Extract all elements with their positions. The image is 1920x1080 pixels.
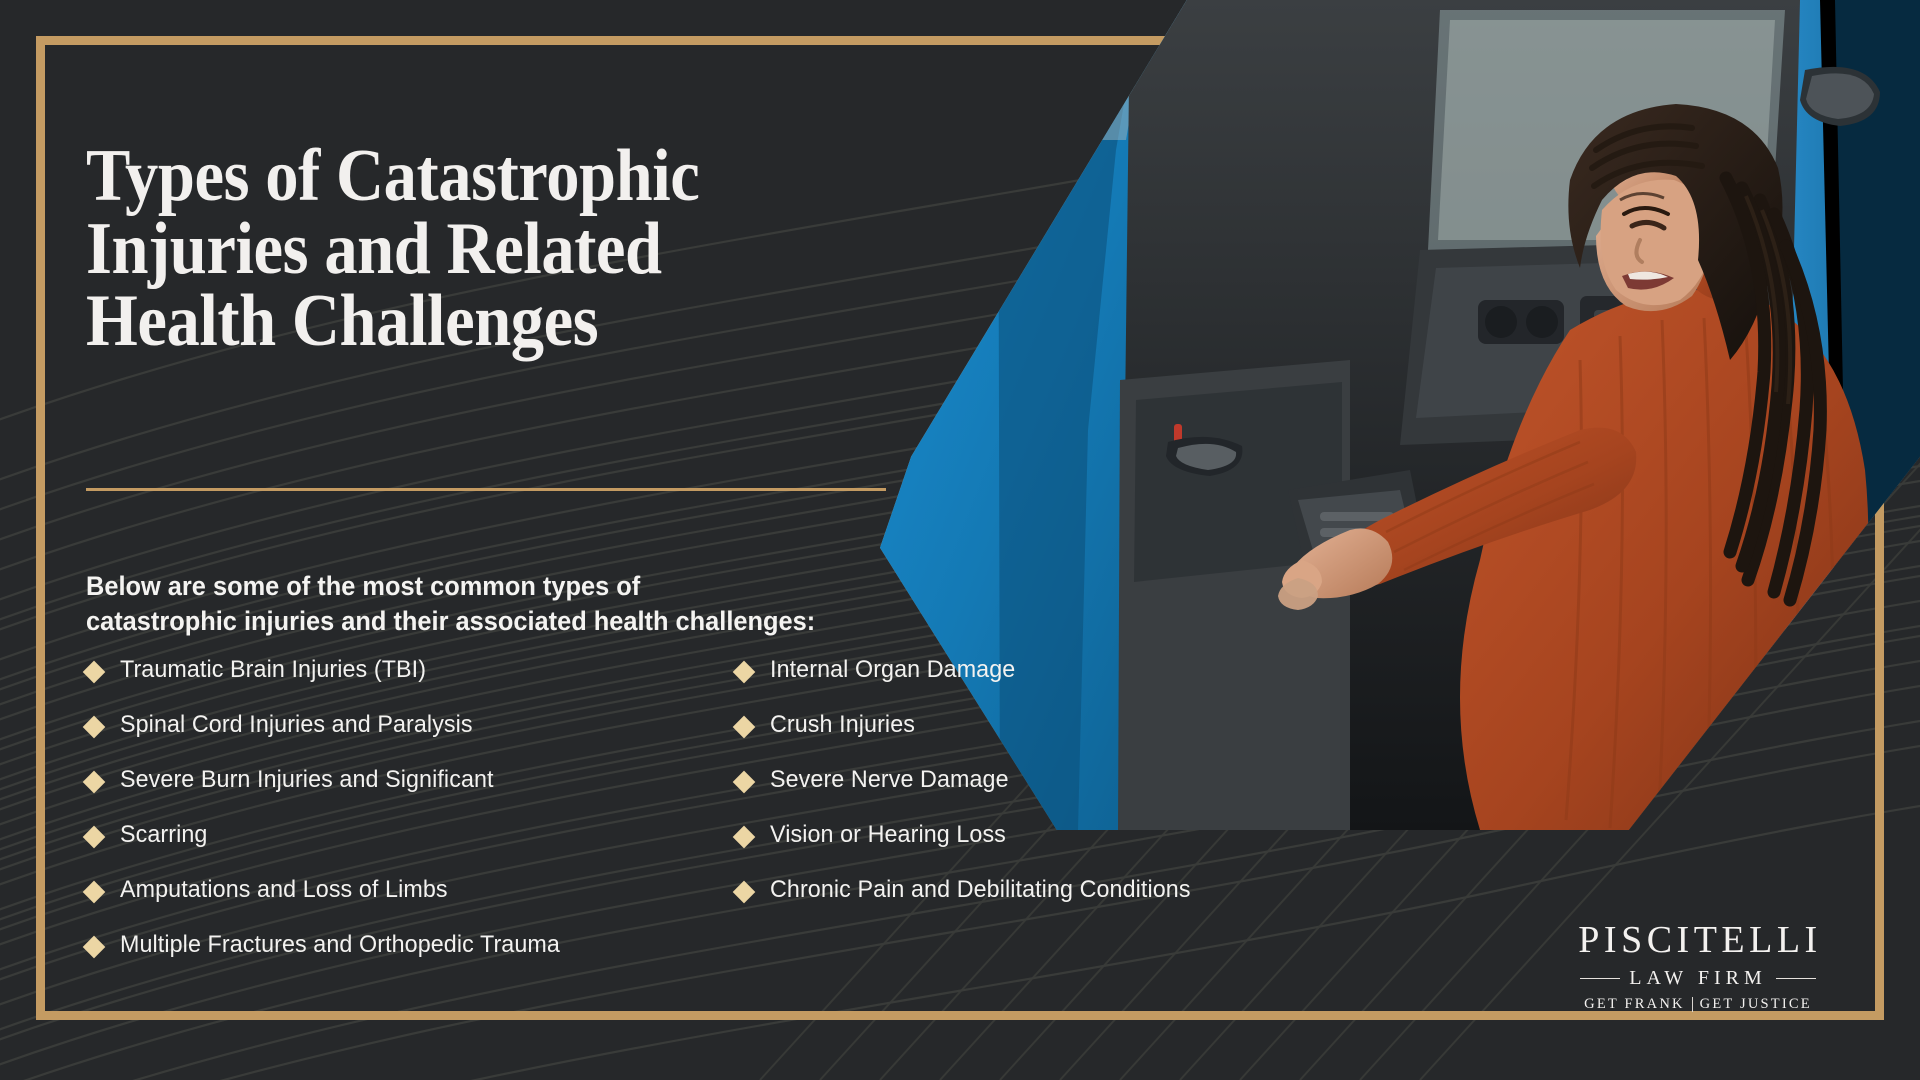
list-item-label: Traumatic Brain Injuries (TBI) (120, 655, 426, 682)
firm-logo: PISCITELLI LAW FIRM GET FRANK GET JUSTIC… (1548, 921, 1848, 1012)
list-item-label: Vision or Hearing Loss (770, 820, 1006, 847)
diamond-bullet-icon (83, 826, 106, 849)
list-item: Severe Nerve Damage (736, 765, 1386, 820)
logo-subtitle: LAW FIRM (1629, 968, 1766, 988)
list-item-label: Amputations and Loss of Limbs (120, 875, 448, 902)
list-item-label: Crush Injuries (770, 710, 915, 737)
page-title: Types of Catastrophic Injuries and Relat… (86, 60, 1076, 358)
injury-lists: Traumatic Brain Injuries (TBI) Spinal Co… (86, 655, 1406, 985)
diamond-bullet-icon (83, 716, 106, 739)
logo-rule-left (1580, 978, 1620, 979)
diamond-bullet-icon (733, 771, 756, 794)
logo-subtitle-row: LAW FIRM (1548, 968, 1848, 988)
diamond-bullet-icon (733, 826, 756, 849)
diamond-bullet-icon (83, 936, 106, 959)
list-item: Severe Burn Injuries and Significant (86, 765, 736, 820)
injury-list-right: Internal Organ Damage Crush Injuries Sev… (736, 655, 1386, 985)
diamond-bullet-icon (733, 881, 756, 904)
list-item-label: Severe Burn Injuries and Significant (120, 765, 494, 792)
list-item-label: Multiple Fractures and Orthopedic Trauma (120, 930, 560, 957)
diamond-bullet-icon (83, 661, 106, 684)
logo-firm-name: PISCITELLI (1548, 921, 1848, 959)
gold-divider (86, 488, 886, 491)
diamond-bullet-icon (83, 881, 106, 904)
diamond-bullet-icon (83, 771, 106, 794)
lead-paragraph: Below are some of the most common types … (86, 569, 829, 638)
list-item-label: Spinal Cord Injuries and Paralysis (120, 710, 473, 737)
list-item: Multiple Fractures and Orthopedic Trauma (86, 930, 736, 985)
infographic-canvas: Types of Catastrophic Injuries and Relat… (0, 0, 1920, 1080)
logo-tagline: GET FRANK GET JUSTICE (1548, 997, 1848, 1012)
list-item: Crush Injuries (736, 710, 1386, 765)
injury-list-left: Traumatic Brain Injuries (TBI) Spinal Co… (86, 655, 736, 985)
logo-tagline-left: GET FRANK (1584, 997, 1685, 1012)
content-block: Types of Catastrophic Injuries and Relat… (86, 60, 1086, 358)
list-item: Spinal Cord Injuries and Paralysis (86, 710, 736, 765)
list-item-label: Scarring (120, 820, 207, 847)
diamond-bullet-icon (733, 661, 756, 684)
logo-tagline-separator (1692, 997, 1693, 1012)
list-item: Traumatic Brain Injuries (TBI) (86, 655, 736, 710)
list-item-label: Severe Nerve Damage (770, 765, 1009, 792)
logo-rule-right (1776, 978, 1816, 979)
list-item-label: Chronic Pain and Debilitating Conditions (770, 875, 1191, 902)
list-item: Internal Organ Damage (736, 655, 1386, 710)
list-item: Vision or Hearing Loss (736, 820, 1386, 875)
diamond-bullet-icon (733, 716, 756, 739)
list-item: Chronic Pain and Debilitating Conditions (736, 875, 1386, 930)
list-item: Amputations and Loss of Limbs (86, 875, 736, 930)
list-item: Scarring (86, 820, 736, 875)
logo-tagline-right: GET JUSTICE (1700, 997, 1812, 1012)
list-item-label: Internal Organ Damage (770, 655, 1015, 682)
